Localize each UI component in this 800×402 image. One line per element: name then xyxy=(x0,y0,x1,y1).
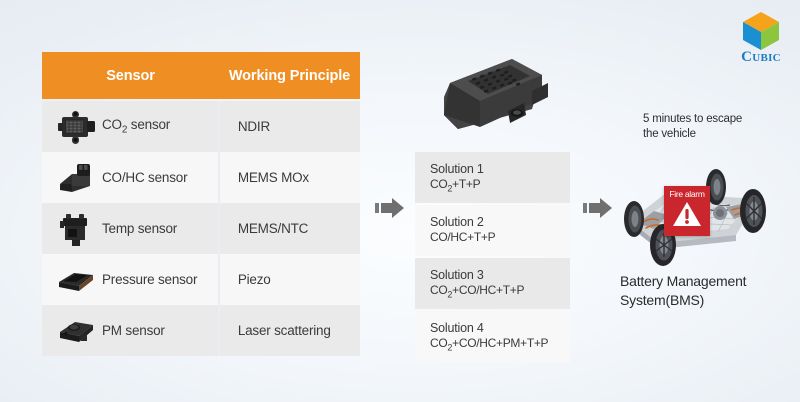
co-hc-sensor-icon xyxy=(50,158,102,198)
sensor-name: Temp sensor xyxy=(102,221,177,236)
bms-line2: System(BMS) xyxy=(620,291,790,310)
cubic-logo: Cubic xyxy=(726,8,796,66)
fire-alarm-label: Fire alarm xyxy=(664,186,710,199)
composition-tail: +CO/HC+T+P xyxy=(452,283,524,297)
cubic-wordmark: Cubic xyxy=(728,49,794,65)
principle-text: Laser scattering xyxy=(238,323,331,338)
escape-note-line1: 5 minutes to escape xyxy=(643,112,763,127)
fire-alarm-badge: Fire alarm xyxy=(664,186,710,236)
sensor-module-device xyxy=(424,53,556,141)
solution-item: Solution 4 CO2+CO/HC+PM+T+P xyxy=(415,311,570,362)
bms-line1: Battery Management xyxy=(620,272,790,291)
composition-base: CO xyxy=(430,283,447,297)
table-row: CO/HC sensor MEMS MOx xyxy=(42,152,360,203)
composition-tail: +T+P xyxy=(452,177,480,191)
table-row: Temp sensor MEMS/NTC xyxy=(42,203,360,254)
table-row: CO2 sensor NDIR xyxy=(42,101,360,152)
pressure-sensor-icon xyxy=(50,260,102,300)
bms-caption: Battery Management System(BMS) xyxy=(620,272,790,310)
table-header-sensor: Sensor xyxy=(42,52,219,99)
solutions-panel: Solution 1 CO2+T+P Solution 2 CO/HC+T+P … xyxy=(415,152,570,362)
sensor-name: CO/HC sensor xyxy=(102,170,187,185)
arrow-right-icon xyxy=(375,195,405,221)
wheel xyxy=(624,201,644,237)
sensor-name-base: CO xyxy=(102,117,122,132)
sensor-cell: Temp sensor xyxy=(42,203,218,254)
principle-cell: MEMS MOx xyxy=(220,152,360,203)
solution-composition: CO2+CO/HC+T+P xyxy=(430,283,570,302)
principle-text: NDIR xyxy=(238,119,270,134)
composition-tail: +CO/HC+PM+T+P xyxy=(452,336,548,350)
temp-sensor-icon xyxy=(50,209,102,249)
sensor-name: CO2 sensor xyxy=(102,117,170,136)
pm-sensor-icon xyxy=(50,311,102,351)
sensor-name: PM sensor xyxy=(102,323,165,338)
solution-composition: CO2+CO/HC+PM+T+P xyxy=(430,336,570,355)
composition-base: CO xyxy=(430,177,447,191)
wheel xyxy=(740,189,766,233)
sensor-table: Sensor Working Principle xyxy=(42,52,360,355)
solution-title: Solution 1 xyxy=(430,161,570,177)
solution-title: Solution 2 xyxy=(430,214,570,230)
solution-composition: CO/HC+T+P xyxy=(430,230,570,245)
table-row: Pressure sensor Piezo xyxy=(42,254,360,305)
sensor-cell: Pressure sensor xyxy=(42,254,218,305)
solution-title: Solution 3 xyxy=(430,267,570,283)
co2-sensor-icon xyxy=(50,107,102,147)
solution-item: Solution 2 CO/HC+T+P xyxy=(415,205,570,256)
sensor-name-tail: sensor xyxy=(127,117,170,132)
slide-canvas: Cubic Sensor Working Principle xyxy=(0,0,800,402)
table-row: PM sensor Laser scattering xyxy=(42,305,360,356)
solution-composition: CO2+T+P xyxy=(430,177,570,196)
solution-title: Solution 4 xyxy=(430,320,570,336)
composition-base: CO xyxy=(430,336,447,350)
sensor-cell: PM sensor xyxy=(42,305,218,356)
principle-text: MEMS/NTC xyxy=(238,221,308,236)
table-header-row: Sensor Working Principle xyxy=(42,52,360,99)
solution-item: Solution 1 CO2+T+P xyxy=(415,152,570,203)
principle-cell: NDIR xyxy=(220,101,360,152)
solution-item: Solution 3 CO2+CO/HC+T+P xyxy=(415,258,570,309)
warning-triangle-icon xyxy=(672,200,702,228)
principle-cell: Piezo xyxy=(220,254,360,305)
principle-cell: MEMS/NTC xyxy=(220,203,360,254)
table-header-principle: Working Principle xyxy=(219,52,360,99)
sensor-cell: CO2 sensor xyxy=(42,101,218,152)
sensor-name: Pressure sensor xyxy=(102,272,197,287)
cube-logo-icon xyxy=(726,8,796,53)
escape-note-line2: the vehicle xyxy=(643,127,763,142)
sensor-module-device-icon xyxy=(424,53,556,141)
escape-time-note: 5 minutes to escape the vehicle xyxy=(643,112,763,142)
sensor-cell: CO/HC sensor xyxy=(42,152,218,203)
flow-arrow-first xyxy=(375,195,405,221)
principle-cell: Laser scattering xyxy=(220,305,360,356)
principle-text: MEMS MOx xyxy=(238,170,309,185)
principle-text: Piezo xyxy=(238,272,271,287)
